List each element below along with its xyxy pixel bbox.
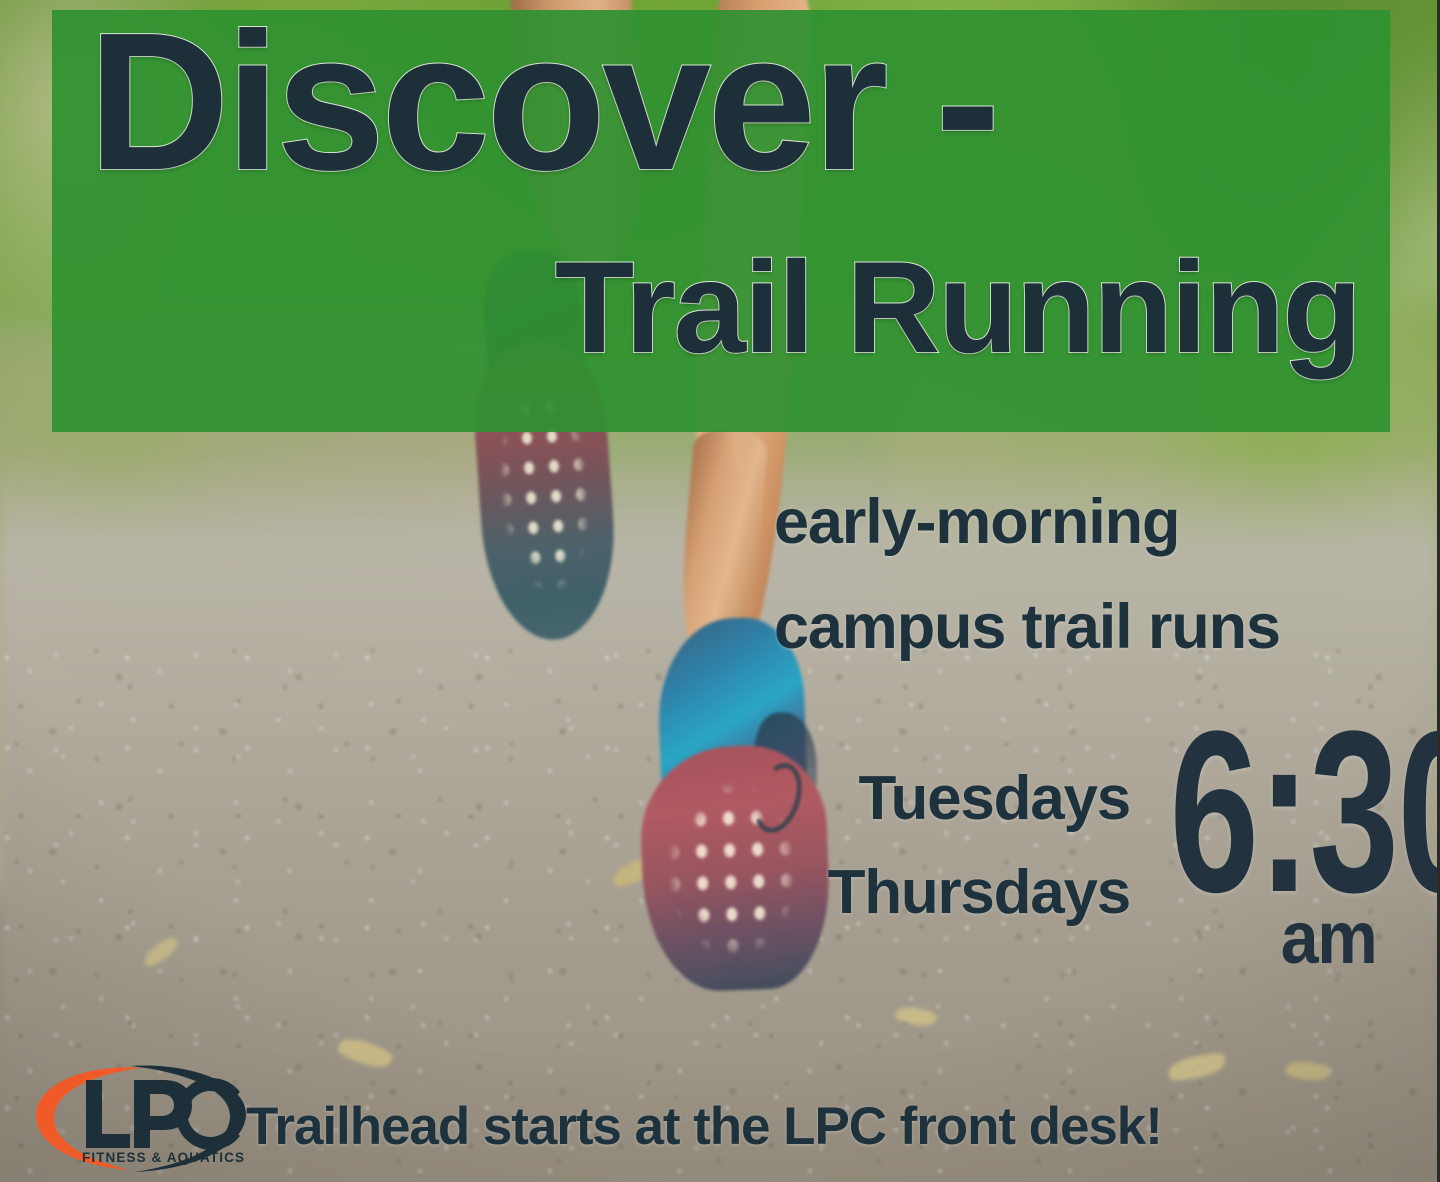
logo-tagline: FITNESS & AQUATICS <box>82 1150 245 1165</box>
schedule-day-1: Tuesdays <box>770 752 1130 846</box>
lead-copy-line-2: campus trail runs <box>774 575 1394 680</box>
poster-title-line-2: Trail Running <box>555 242 1360 372</box>
schedule-day-2: Thursdays <box>770 846 1130 940</box>
title-group: Discover - Trail Running <box>52 10 1390 432</box>
schedule-time-suffix: am <box>1152 901 1382 975</box>
lead-copy-line-1: early-morning <box>774 470 1394 575</box>
lead-copy: early-morning campus trail runs <box>774 470 1394 679</box>
schedule-time-block: 6:30 am <box>1132 718 1382 975</box>
poster-title-line-1: Discover - <box>88 4 997 200</box>
schedule-time: 6:30 <box>1170 718 1345 907</box>
lpc-logo-icon: FITNESS & AQUATICS <box>34 1062 249 1174</box>
footer-note: Trailhead starts at the LPC front desk! <box>246 1096 1162 1157</box>
schedule-block: Tuesdays Thursdays 6:30 am <box>770 740 1400 1010</box>
lpc-letters <box>86 1078 240 1150</box>
poster-canvas: Discover - Trail Running early-morning c… <box>0 0 1440 1182</box>
schedule-days: Tuesdays Thursdays <box>770 752 1130 940</box>
